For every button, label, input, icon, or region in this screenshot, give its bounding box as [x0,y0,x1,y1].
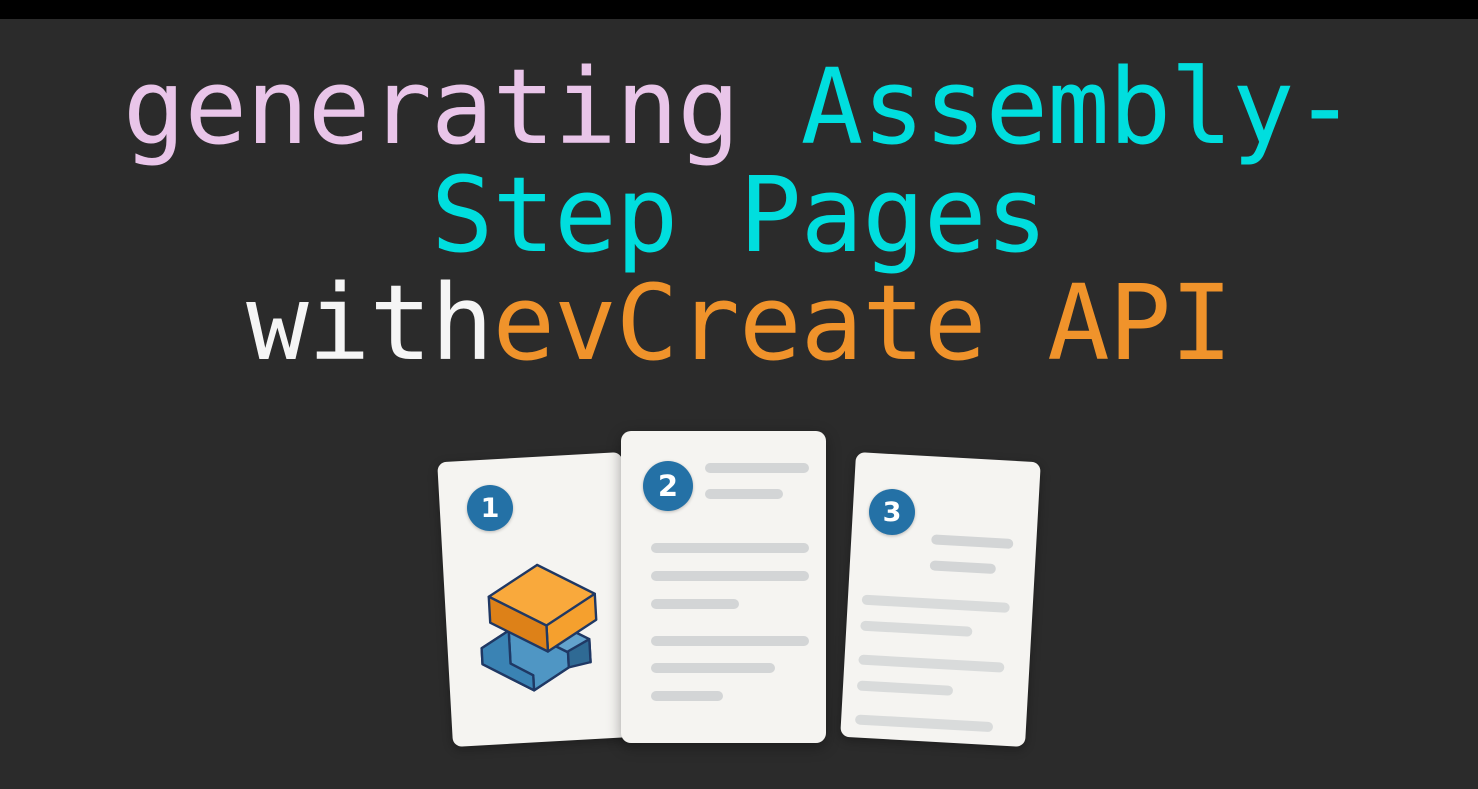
placeholder-line [651,543,809,553]
placeholder-line [855,714,993,732]
placeholder-line [651,663,775,673]
slide-canvas: generating Assembly-Step Pages withevCre… [0,19,1478,789]
title-word-generating: generating [123,46,801,168]
page-title: generating Assembly-Step Pages withevCre… [59,53,1419,377]
title-word-evcreate-api: evCreate API [493,262,1232,384]
placeholder-line [651,599,739,609]
title-word-assembly: Assembly- [801,46,1356,168]
placeholder-line [651,636,809,646]
step-badge-1: 1 [467,485,513,531]
placeholder-line [858,655,1004,673]
placeholder-line [931,534,1013,549]
placeholder-line [860,621,972,637]
placeholder-line [930,560,996,574]
placeholder-line [705,489,783,499]
step-badge-2: 2 [643,461,693,511]
placeholder-line [862,595,1010,613]
placeholder-line [651,571,809,581]
top-black-bar [0,0,1478,19]
placeholder-line [857,680,953,695]
title-word-with: with [246,262,492,384]
placeholder-line [705,463,809,473]
placeholder-line [651,691,723,701]
isometric-assembly-parts-icon [465,553,618,711]
step-page-1 [437,452,638,747]
three-step-pages-illustration: 1 3 2 [429,419,1049,749]
step-badge-3: 3 [869,489,915,535]
step-page-3 [840,452,1041,747]
title-word-step-pages: Step Pages [431,154,1109,276]
